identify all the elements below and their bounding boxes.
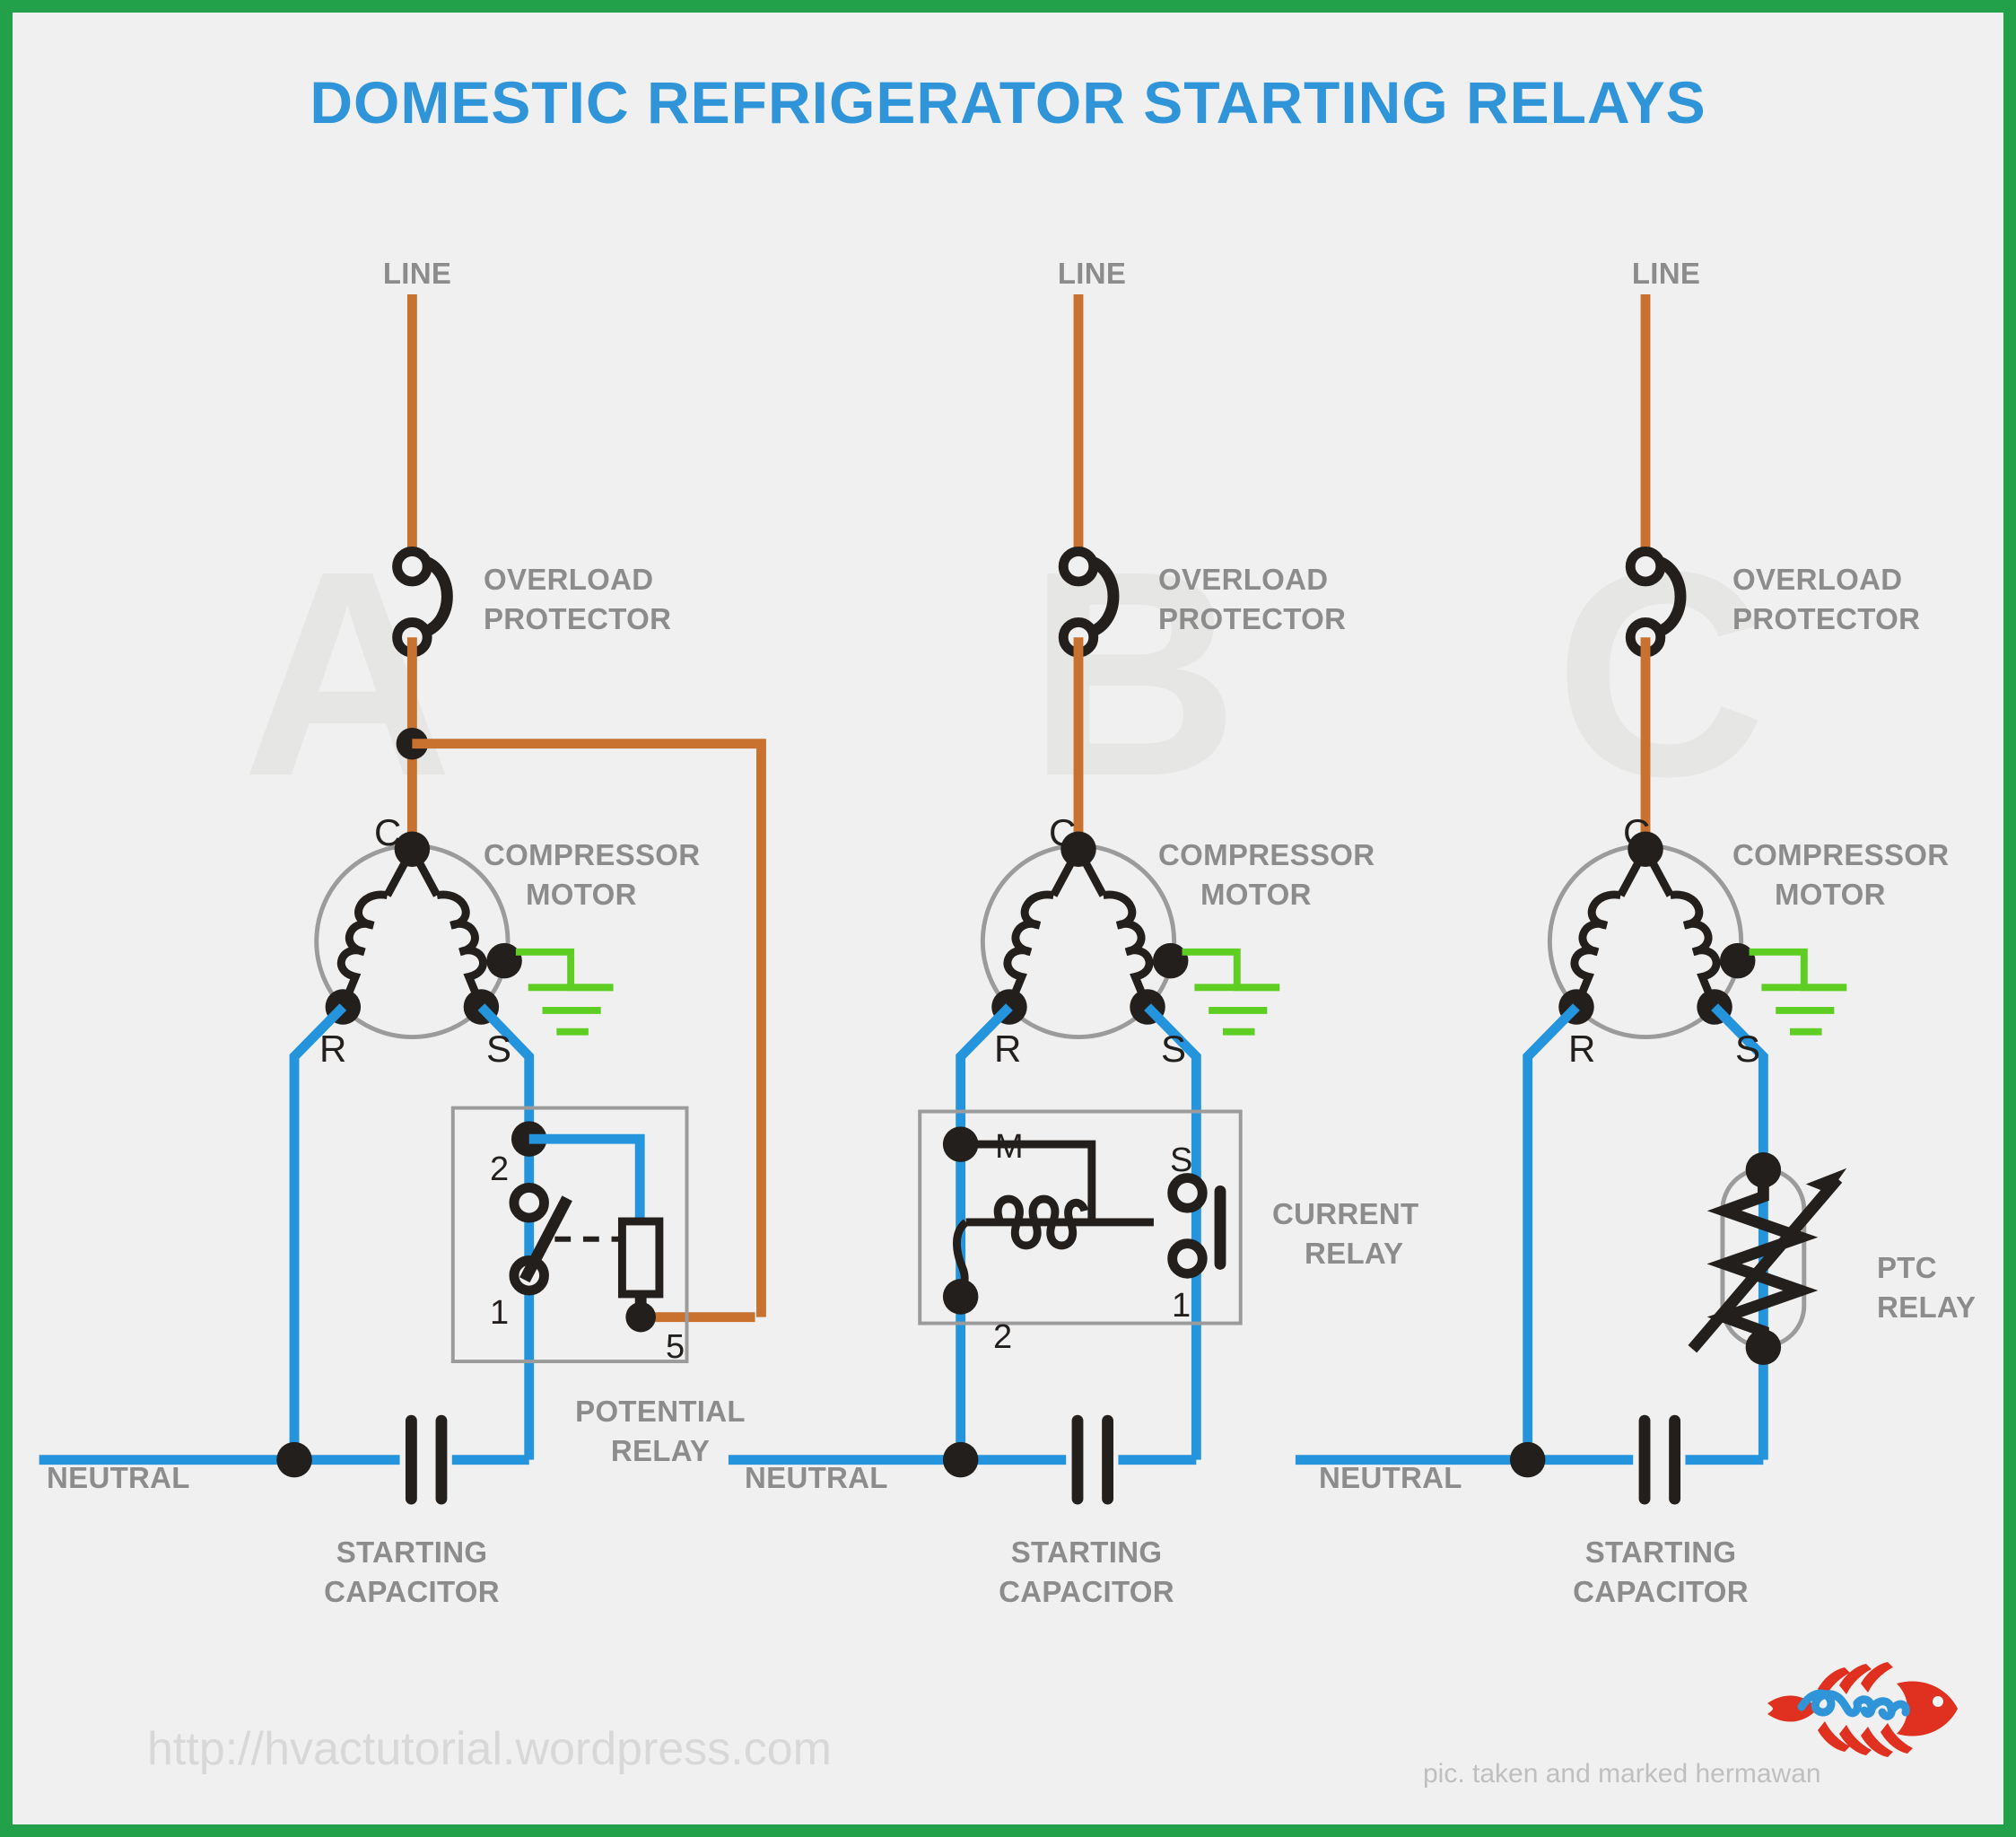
capacitor-label-c-l2: CAPACITOR — [1573, 1575, 1749, 1609]
potential-relay-terminal-5-label: 5 — [666, 1328, 685, 1367]
compressor-label-a-l2: MOTOR — [526, 878, 637, 912]
current-relay-terminal-s-label: S — [1170, 1142, 1192, 1180]
motor-terminal-s-c: S — [1735, 1028, 1760, 1071]
current-relay-terminal-1-label: 1 — [1172, 1287, 1191, 1325]
earth-ground-icon-c — [1750, 952, 1847, 1032]
source-url: http://hvactutorial.wordpress.com — [147, 1722, 832, 1776]
neutral-wire-c-run — [1528, 1007, 1576, 1460]
relay-name-c-l2: RELAY — [1877, 1290, 1976, 1325]
motor-terminal-c-c: C — [1623, 811, 1650, 854]
neutral-label-b: NEUTRAL — [745, 1461, 888, 1495]
overload-label-c-l2: PROTECTOR — [1732, 602, 1920, 636]
diagram-c — [1296, 294, 1846, 1499]
potential-relay-terminal-1-label: 1 — [490, 1294, 509, 1333]
compressor-label-c-l1: COMPRESSOR — [1732, 838, 1949, 872]
motor-terminal-c-b: C — [1049, 811, 1076, 854]
current-relay-contact-s — [1173, 1178, 1203, 1209]
capacitor-label-c-l1: STARTING — [1585, 1535, 1737, 1570]
current-relay-terminal-m-label: M — [995, 1128, 1024, 1167]
relay-name-b-l1: CURRENT — [1272, 1197, 1418, 1231]
potential-relay-terminal-5-dot — [625, 1302, 656, 1333]
watermark-letter-b: B — [1028, 511, 1239, 837]
compressor-label-c-l2: MOTOR — [1775, 878, 1886, 912]
neutral-wire-b-run — [961, 1007, 1009, 1460]
motor-terminal-r-b: R — [994, 1028, 1021, 1071]
starting-capacitor-a — [411, 1421, 441, 1499]
compressor-label-b-l2: MOTOR — [1200, 878, 1312, 912]
compressor-motor-c — [1549, 831, 1755, 1037]
motor-terminal-c-a: C — [374, 811, 401, 854]
neutral-wire-a-run — [294, 1007, 343, 1460]
capacitor-label-a-l1: STARTING — [336, 1535, 488, 1570]
potential-relay-terminal-2-label: 2 — [490, 1150, 509, 1189]
current-relay-contact-1 — [1173, 1244, 1203, 1274]
compressor-label-a-l1: COMPRESSOR — [484, 838, 700, 872]
overload-label-a-l1: OVERLOAD — [484, 563, 653, 597]
relay-name-b-l2: RELAY — [1305, 1237, 1403, 1271]
line-label-a: LINE — [383, 257, 451, 291]
starting-capacitor-b — [1078, 1421, 1108, 1499]
start-wire-a-run — [481, 1007, 528, 1460]
fish-skeleton-logo — [1762, 1657, 1977, 1764]
capacitor-label-a-l2: CAPACITOR — [324, 1575, 500, 1609]
overload-label-a-l2: PROTECTOR — [484, 602, 671, 636]
capacitor-label-b-l1: STARTING — [1011, 1535, 1163, 1570]
earth-ground-icon-a — [516, 952, 614, 1032]
motor-terminal-s-a: S — [486, 1028, 511, 1071]
motor-terminal-r-a: R — [319, 1028, 346, 1071]
overload-label-b-l2: PROTECTOR — [1158, 602, 1346, 636]
capacitor-label-b-l2: CAPACITOR — [999, 1575, 1174, 1609]
potential-relay-coil — [622, 1221, 659, 1294]
diagram-a — [39, 294, 762, 1499]
neutral-label-c: NEUTRAL — [1319, 1461, 1462, 1495]
line-label-b: LINE — [1058, 257, 1126, 291]
motor-terminal-r-c: R — [1568, 1028, 1595, 1071]
starting-capacitor-c — [1645, 1421, 1675, 1499]
compressor-label-b-l1: COMPRESSOR — [1158, 838, 1375, 872]
junction-dot-c-neutral — [1510, 1442, 1546, 1478]
overload-label-b-l1: OVERLOAD — [1158, 563, 1328, 597]
earth-ground-icon-b — [1183, 952, 1280, 1032]
potential-relay-contact-upper — [514, 1187, 545, 1218]
relay-name-c-l1: PTC — [1877, 1251, 1937, 1285]
motor-terminal-s-b: S — [1161, 1028, 1186, 1071]
relay-name-a-l2: RELAY — [611, 1434, 710, 1468]
start-wire-b-run — [1148, 1007, 1196, 1460]
line-label-c: LINE — [1632, 257, 1700, 291]
diagram-page: DOMESTIC REFRIGERATOR STARTING RELAYS .w… — [0, 0, 2016, 1837]
overload-label-c-l1: OVERLOAD — [1732, 563, 1902, 597]
junction-dot-b-neutral — [943, 1442, 979, 1478]
relay-name-a-l1: POTENTIAL — [575, 1395, 746, 1429]
junction-dot-a-neutral — [276, 1442, 312, 1478]
current-relay-terminal-2-label: 2 — [993, 1318, 1012, 1357]
neutral-label-a: NEUTRAL — [47, 1461, 190, 1495]
